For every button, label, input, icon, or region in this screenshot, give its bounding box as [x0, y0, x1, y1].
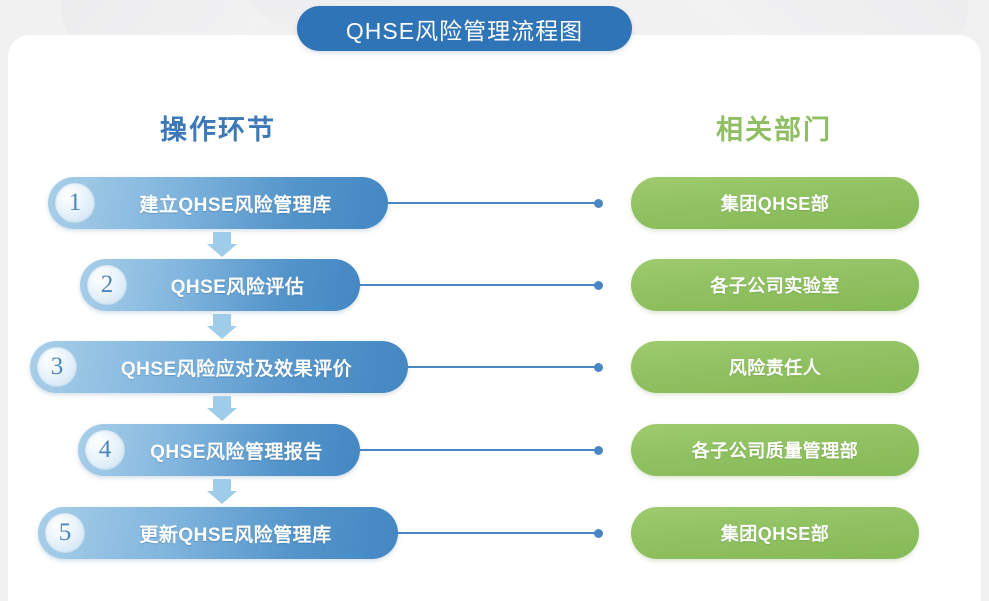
process-step-5[interactable]: 5更新QHSE风险管理库 — [38, 507, 398, 559]
department-pill-4[interactable]: 各子公司质量管理部 — [631, 424, 919, 476]
step-label: QHSE风险管理报告 — [125, 437, 360, 464]
department-label: 各子公司质量管理部 — [692, 437, 859, 463]
flowchart-row: 2QHSE风险评估各子公司实验室 — [0, 259, 989, 313]
step-number-badge: 4 — [85, 430, 125, 470]
flowchart-row: 4QHSE风险管理报告各子公司质量管理部 — [0, 424, 989, 478]
connector-dot — [594, 529, 603, 538]
column-heading-operations: 操作环节 — [160, 108, 276, 147]
chart-title-badge: QHSE风险管理流程图 — [297, 6, 632, 51]
department-pill-5[interactable]: 集团QHSE部 — [631, 507, 919, 559]
department-label: 风险责任人 — [729, 354, 822, 380]
step-number-badge: 2 — [87, 265, 127, 305]
step-number-badge: 1 — [55, 183, 95, 223]
arrow-head — [207, 326, 237, 339]
connector-dot — [594, 281, 603, 290]
column-heading-departments: 相关部门 — [716, 108, 832, 147]
flowchart-row: 5更新QHSE风险管理库集团QHSE部 — [0, 507, 989, 561]
chart-title: QHSE风险管理流程图 — [346, 12, 583, 46]
step-number-badge: 5 — [45, 513, 85, 553]
arrow-stem — [213, 396, 231, 408]
connector-line — [394, 532, 599, 534]
department-pill-1[interactable]: 集团QHSE部 — [631, 177, 919, 229]
connector-dot — [594, 199, 603, 208]
connector-dot — [594, 446, 603, 455]
department-label: 集团QHSE部 — [721, 520, 830, 546]
flowchart-row: 3QHSE风险应对及效果评价风险责任人 — [0, 341, 989, 395]
connector-line — [356, 284, 599, 286]
arrow-stem — [213, 314, 231, 326]
arrow-head — [207, 408, 237, 421]
process-step-1[interactable]: 1建立QHSE风险管理库 — [48, 177, 388, 229]
connector-line — [384, 202, 599, 204]
connector-dot — [594, 363, 603, 372]
arrow-stem — [213, 479, 231, 491]
process-step-4[interactable]: 4QHSE风险管理报告 — [78, 424, 360, 476]
connector-line — [356, 449, 599, 451]
step-label: QHSE风险应对及效果评价 — [77, 354, 408, 381]
step-label: QHSE风险评估 — [127, 272, 360, 299]
step-number-badge: 3 — [37, 347, 77, 387]
process-step-2[interactable]: 2QHSE风险评估 — [80, 259, 360, 311]
department-label: 各子公司实验室 — [710, 272, 840, 298]
step-label: 建立QHSE风险管理库 — [95, 190, 388, 217]
process-step-3[interactable]: 3QHSE风险应对及效果评价 — [30, 341, 408, 393]
flowchart-row: 1建立QHSE风险管理库集团QHSE部 — [0, 177, 989, 231]
connector-line — [404, 366, 599, 368]
arrow-head — [207, 491, 237, 504]
department-pill-2[interactable]: 各子公司实验室 — [631, 259, 919, 311]
department-label: 集团QHSE部 — [721, 190, 830, 216]
step-label: 更新QHSE风险管理库 — [85, 520, 398, 547]
arrow-head — [207, 244, 237, 257]
arrow-stem — [213, 232, 231, 244]
department-pill-3[interactable]: 风险责任人 — [631, 341, 919, 393]
